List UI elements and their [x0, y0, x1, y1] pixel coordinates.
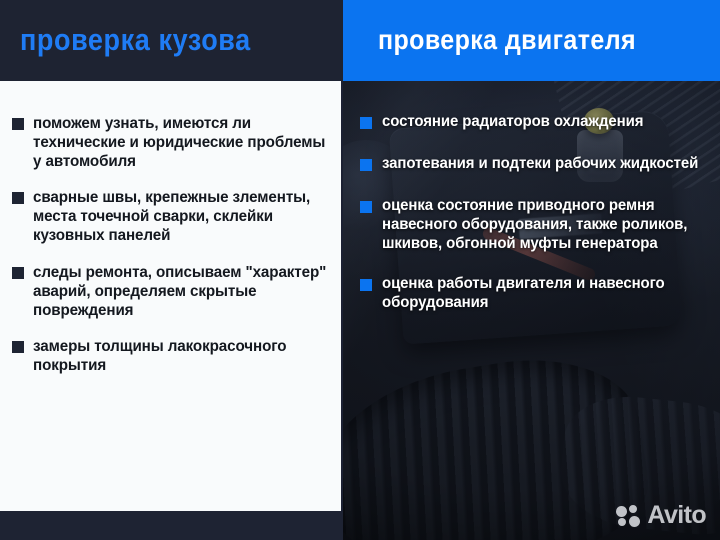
promo-poster: проверка кузова проверка двигателя помож…	[0, 0, 720, 540]
list-item: сварные швы, крепежные злементы, места т…	[12, 188, 331, 241]
left-header-title: проверка кузова	[20, 23, 251, 58]
avito-watermark: Avito	[616, 503, 706, 528]
bullet-square-icon	[360, 201, 372, 213]
list-item-label: оценка работы двигателя и навесного обор…	[382, 274, 712, 312]
engine-check-list: состояние радиаторов охлаждения запотева…	[360, 112, 712, 334]
body-check-list: поможем узнать, имеются ли технические и…	[0, 81, 341, 373]
bullet-square-icon	[12, 192, 24, 204]
list-item-label: оценка состояние приводного ремня навесн…	[382, 196, 712, 253]
bullet-square-icon	[12, 341, 24, 353]
list-item: следы ремонта, описываем "характер" авар…	[12, 263, 331, 316]
list-item: запотевания и подтеки рабочих жидкостей	[360, 154, 712, 172]
list-item-label: поможем узнать, имеются ли технические и…	[33, 114, 331, 171]
body-check-panel: поможем узнать, имеются ли технические и…	[0, 81, 341, 511]
bullet-square-icon	[360, 117, 372, 129]
list-item: оценка работы двигателя и навесного обор…	[360, 274, 712, 310]
list-item: оценка состояние приводного ремня навесн…	[360, 196, 712, 250]
avito-logo-icon	[616, 505, 642, 527]
list-item-label: запотевания и подтеки рабочих жидкостей	[382, 154, 698, 173]
list-item: замеры толщины лакокрасочного покрытия	[12, 337, 331, 373]
list-item-label: состояние радиаторов охлаждения	[382, 112, 643, 131]
right-header-bar: проверка двигателя	[343, 0, 720, 81]
avito-wordmark: Avito	[647, 503, 706, 528]
bullet-square-icon	[360, 159, 372, 171]
bullet-square-icon	[360, 279, 372, 291]
list-item-label: следы ремонта, описываем "характер" авар…	[33, 263, 331, 320]
left-header-bar: проверка кузова	[0, 0, 343, 81]
bullet-square-icon	[12, 118, 24, 130]
list-item-label: замеры толщины лакокрасочного покрытия	[33, 337, 331, 375]
list-item-label: сварные швы, крепежные злементы, места т…	[33, 188, 331, 245]
bullet-square-icon	[12, 267, 24, 279]
right-header-title: проверка двигателя	[378, 24, 636, 56]
list-item: поможем узнать, имеются ли технические и…	[12, 114, 331, 167]
left-bottom-strip	[0, 511, 343, 540]
list-item: состояние радиаторов охлаждения	[360, 112, 712, 130]
